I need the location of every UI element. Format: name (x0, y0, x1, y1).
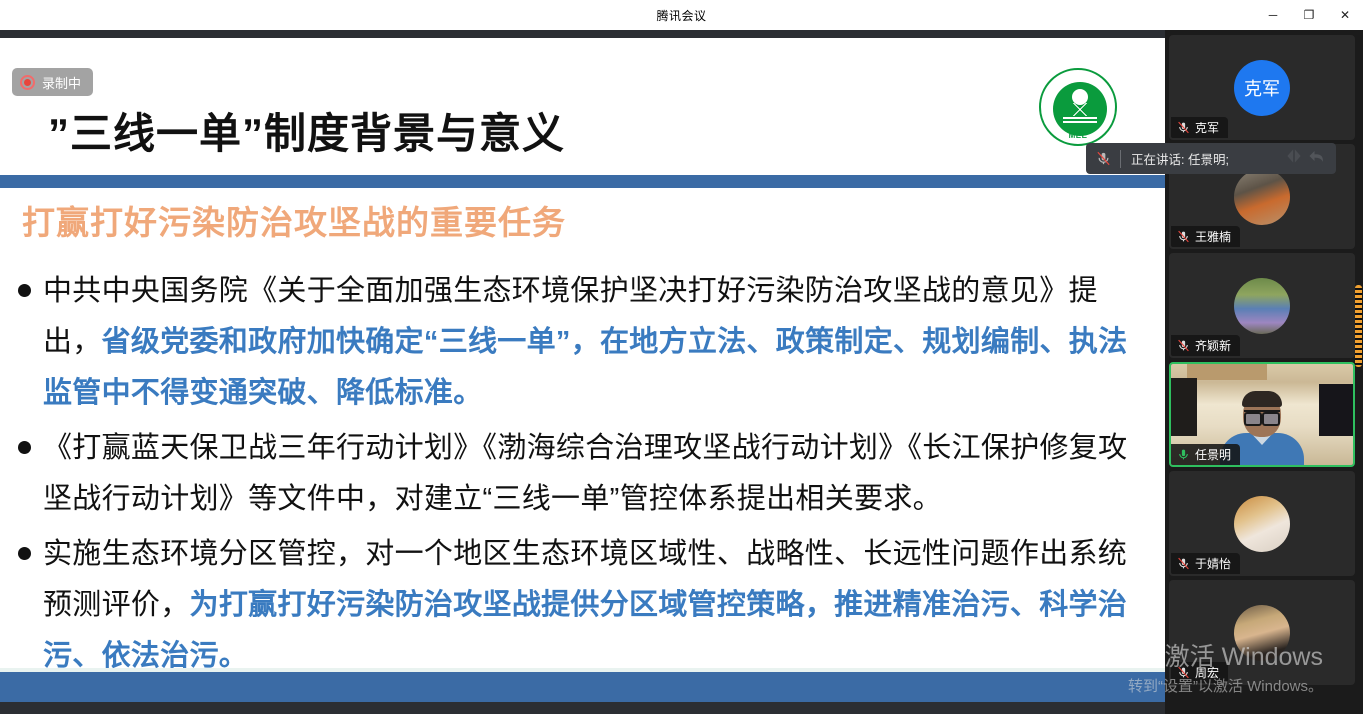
minimize-button[interactable]: ─ (1255, 0, 1291, 30)
mic-muted-icon (1086, 151, 1120, 166)
participant-name: 克军 (1195, 119, 1219, 136)
bullet-dot-icon (18, 441, 31, 454)
slide-title: ”三线一单”制度背景与意义 (48, 100, 565, 161)
return-arrow-icon[interactable] (1307, 146, 1327, 171)
window-title-bar: 腾讯会议 ─ ❐ ✕ (0, 0, 1363, 30)
bullet-segment-highlight: 省级党委和政府加快确定“三线一单”，在地方立法、政策制定、规划编制、执法监管中不… (43, 326, 1127, 409)
speaking-text: 正在讲话: 任景明; (1121, 149, 1283, 168)
mic-on-icon (1177, 448, 1190, 461)
close-button[interactable]: ✕ (1327, 0, 1363, 30)
emblem-label: MEE (1041, 131, 1115, 140)
participant-name: 任景明 (1195, 446, 1231, 463)
bullet-item: 实施生态环境分区管控，对一个地区生态环境区域性、战略性、长远性问题作出系统预测评… (18, 529, 1138, 682)
avatar (1234, 605, 1290, 661)
slide-footer-bar (0, 672, 1165, 702)
avatar (1234, 278, 1290, 334)
maximize-button[interactable]: ❐ (1291, 0, 1327, 30)
bullet-item: 中共中央国务院《关于全面加强生态环境保护坚决打好污染防治攻坚战的意见》提出，省级… (18, 266, 1138, 419)
slide-subtitle: 打赢打好污染防治攻坚战的重要任务 (22, 196, 566, 244)
participant-name: 周宏 (1195, 664, 1219, 681)
participant-name: 齐颖新 (1195, 337, 1231, 354)
presentation-slide: MEE ”三线一单”制度背景与意义 打赢打好污染防治攻坚战的重要任务 中共中央国… (0, 38, 1165, 702)
mic-muted-icon (1177, 339, 1190, 352)
mic-muted-icon (1177, 557, 1190, 570)
bullet-segment-plain: 《打赢蓝天保卫战三年行动计划》《渤海综合治理攻坚战行动计划》《长江保护修复攻坚战… (43, 432, 1127, 515)
participant-rail[interactable]: 克军 克军 王雅楠 齐颖新 (1165, 30, 1363, 714)
shared-screen-stage[interactable]: MEE ”三线一单”制度背景与意义 打赢打好污染防治攻坚战的重要任务 中共中央国… (0, 30, 1165, 714)
bullet-text: 中共中央国务院《关于全面加强生态环境保护坚决打好污染防治攻坚战的意见》提出，省级… (43, 266, 1138, 419)
mee-emblem-icon: MEE (1039, 68, 1117, 146)
participant-tile[interactable]: 周宏 (1169, 580, 1355, 685)
participant-label: 周宏 (1171, 662, 1228, 683)
bullet-item: 《打赢蓝天保卫战三年行动计划》《渤海综合治理攻坚战行动计划》《长江保护修复攻坚战… (18, 423, 1138, 525)
mic-muted-icon (1177, 230, 1190, 243)
window-title: 腾讯会议 (656, 7, 706, 24)
slide-bullet-list: 中共中央国务院《关于全面加强生态环境保护坚决打好污染防治攻坚战的意见》提出，省级… (18, 266, 1138, 686)
avatar: 克军 (1234, 60, 1290, 116)
participant-label: 王雅楠 (1171, 226, 1240, 247)
bullet-dot-icon (18, 547, 31, 560)
bullet-dot-icon (18, 284, 31, 297)
participant-tile[interactable]: 齐颖新 (1169, 253, 1355, 358)
participant-tile[interactable]: 于婧怡 (1169, 471, 1355, 576)
recording-label: 录制中 (42, 73, 81, 92)
speaking-indicator-toast[interactable]: 正在讲话: 任景明; (1086, 143, 1336, 174)
participant-label: 任景明 (1171, 444, 1240, 465)
recording-dot-icon (20, 75, 35, 90)
mic-muted-icon (1177, 666, 1190, 679)
participant-name: 王雅楠 (1195, 228, 1231, 245)
window-controls: ─ ❐ ✕ (1255, 0, 1363, 30)
participant-label: 于婧怡 (1171, 553, 1240, 574)
bullet-text: 《打赢蓝天保卫战三年行动计划》《渤海综合治理攻坚战行动计划》《长江保护修复攻坚战… (43, 423, 1138, 525)
bullet-text: 实施生态环境分区管控，对一个地区生态环境区域性、战略性、长远性问题作出系统预测评… (43, 529, 1138, 682)
mic-muted-icon (1177, 121, 1190, 134)
bullet-segment-highlight: 为打赢打好污染防治攻坚战提供分区域管控策略，推进精准治污、科学治污、依法治污。 (43, 589, 1127, 672)
participant-tile-active-speaker[interactable]: 任景明 (1169, 362, 1355, 467)
title-divider-rule (0, 175, 1165, 188)
chevron-collapse-icon[interactable] (1283, 146, 1305, 171)
recording-badge[interactable]: 录制中 (12, 68, 93, 96)
rail-scrollbar[interactable] (1355, 285, 1362, 367)
participant-name: 于婧怡 (1195, 555, 1231, 572)
toast-actions[interactable] (1283, 146, 1336, 171)
avatar (1234, 496, 1290, 552)
avatar (1234, 169, 1290, 225)
participant-tile[interactable]: 克军 克军 (1169, 35, 1355, 140)
participant-label: 克军 (1171, 117, 1228, 138)
participant-label: 齐颖新 (1171, 335, 1240, 356)
